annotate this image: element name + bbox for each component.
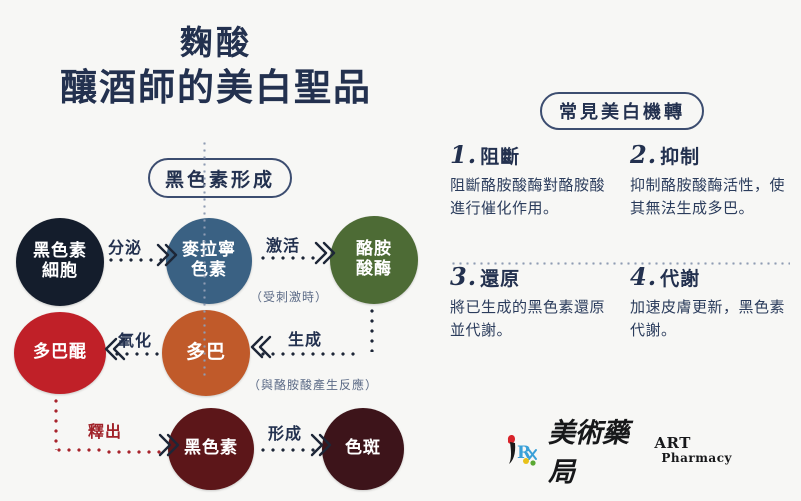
infographic-page: 麴酸 釀酒師的美白聖品 黑色素形成 黑色素 細胞 麥拉寧 色素 酪胺 酸酶 多巴…: [0, 0, 801, 501]
connector-activate: [258, 256, 320, 260]
mechanism-item-4-body: 加速皮膚更新，黑色素代謝。: [630, 296, 790, 343]
mechanism-item-2: 2.抑制 抑制酪胺酸酶活性，使其無法生成多巴。: [630, 140, 790, 221]
mechanism-grid: 1.阻斷 阻斷酪胺酸酶對酪胺酸進行催化作用。 2.抑制 抑制酪胺酸酶活性，使其無…: [450, 140, 790, 380]
label-secrete: 分泌: [108, 234, 142, 258]
grid-horizontal-divider: [450, 262, 790, 265]
connector-tyrosinase-down: [370, 306, 374, 352]
mechanism-item-3-number: 3.: [450, 262, 477, 291]
arrow-chevron-release-icon: [158, 432, 180, 458]
logo-english-line2: Pharmacy: [661, 452, 732, 465]
mechanism-item-1-head: 1.阻斷: [450, 140, 610, 169]
mechanism-item-2-body: 抑制酪胺酸酶活性，使其無法生成多巴。: [630, 174, 790, 221]
connector-dopaquinone-down: [54, 396, 58, 450]
rx-logo-mark-icon: R: [502, 430, 544, 470]
mechanism-item-1: 1.阻斷 阻斷酪胺酸酶對酪胺酸進行催化作用。: [450, 140, 610, 221]
label-generate: 生成: [288, 326, 322, 350]
arrow-chevron-activate-icon: [314, 240, 336, 266]
node-dopaquinone-label: 多巴醌: [33, 343, 87, 363]
mechanism-item-2-number: 2.: [630, 140, 657, 169]
connector-secrete: [106, 258, 162, 262]
arrow-chevron-secrete-icon: [156, 242, 178, 268]
node-melanocyte-label: 黑色素 細胞: [33, 242, 87, 281]
connector-dopaquinone-right: [54, 448, 106, 452]
page-title-line2: 釀酒師的美白聖品: [0, 66, 432, 110]
grid-vertical-divider: [203, 140, 206, 378]
mechanism-item-4-title: 代謝: [660, 268, 700, 290]
mechanism-item-1-number: 1.: [450, 140, 477, 169]
logo-english-name: ART Pharmacy: [654, 436, 732, 464]
mechanism-item-4-head: 4.代謝: [630, 262, 790, 291]
mechanism-item-3: 3.還原 將已生成的黑色素還原並代謝。: [450, 262, 610, 343]
arrow-chevron-generate-icon: [250, 334, 272, 360]
logo-chinese-name: 美術藥局: [548, 411, 646, 489]
mechanism-item-1-body: 阻斷酪胺酸酶對酪胺酸進行催化作用。: [450, 174, 610, 221]
mechanism-item-4: 4.代謝 加速皮膚更新，黑色素代謝。: [630, 262, 790, 343]
node-tyrosinase: 酪胺 酸酶: [330, 216, 418, 304]
brand-logo: R 美術藥局 ART Pharmacy: [502, 424, 732, 476]
arrow-chevron-form-icon: [310, 432, 332, 458]
node-melanin-label: 黑色素: [184, 439, 238, 459]
node-dopa: 多巴: [162, 310, 250, 396]
mechanism-item-3-title: 還原: [480, 268, 520, 290]
mechanism-item-1-title: 阻斷: [480, 146, 520, 168]
badge-melanin-formation: 黑色素形成: [148, 158, 292, 198]
node-dopaquinone: 多巴醌: [14, 312, 106, 394]
mechanism-item-3-head: 3.還原: [450, 262, 610, 291]
mechanism-item-4-number: 4.: [630, 262, 657, 291]
node-melanin-pigment: 麥拉寧 色素: [166, 218, 252, 304]
node-melanocyte: 黑色素 細胞: [16, 218, 104, 306]
title-block: 麴酸 釀酒師的美白聖品: [0, 24, 432, 110]
node-spot: 色斑: [322, 408, 404, 490]
node-spot-label: 色斑: [345, 439, 381, 459]
connector-release: [104, 450, 164, 454]
mechanism-item-2-title: 抑制: [660, 146, 700, 168]
connector-generate: [258, 352, 356, 356]
node-melanin-pigment-label: 麥拉寧 色素: [182, 241, 236, 280]
mechanism-item-3-body: 將已生成的黑色素還原並代謝。: [450, 296, 610, 343]
badge-whitening-mechanisms: 常見美白機轉: [540, 92, 704, 130]
node-melanin: 黑色素: [168, 408, 254, 490]
logo-english-line1: ART: [654, 436, 732, 452]
label-form: 形成: [268, 420, 302, 444]
label-release: 釋出: [88, 418, 122, 442]
note-react-with-tyrosine: （與酪胺酸產生反應）: [248, 376, 378, 393]
page-title-line1: 麴酸: [0, 24, 432, 62]
label-oxidize: 氧化: [118, 327, 152, 351]
note-when-stimulated: （受刺激時）: [250, 288, 328, 305]
left-panel: 麴酸 釀酒師的美白聖品 黑色素形成 黑色素 細胞 麥拉寧 色素 酪胺 酸酶 多巴…: [0, 0, 432, 501]
label-activate: 激活: [266, 232, 300, 256]
connector-form: [258, 448, 316, 452]
mechanism-item-2-head: 2.抑制: [630, 140, 790, 169]
node-tyrosinase-label: 酪胺 酸酶: [356, 240, 392, 279]
